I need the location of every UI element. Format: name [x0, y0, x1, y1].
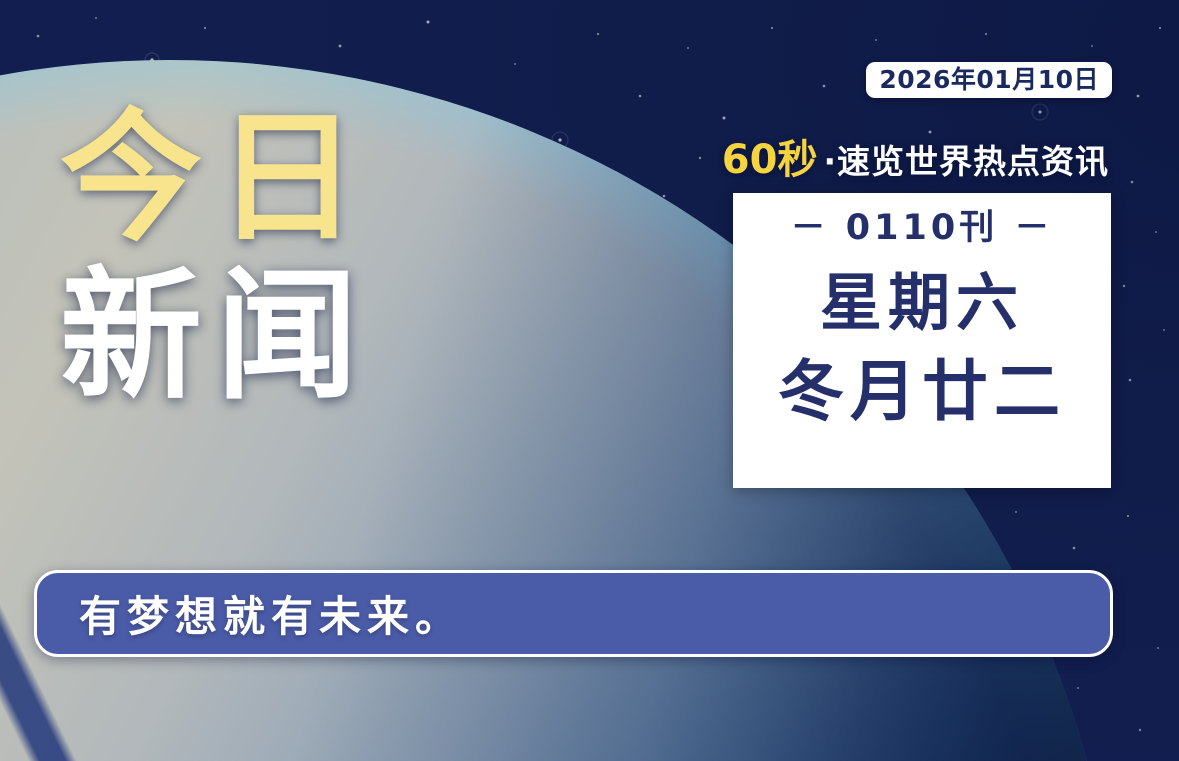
motto-banner: 有梦想就有未来。	[34, 570, 1113, 657]
page-title: 今日 新闻	[60, 104, 372, 412]
lunar-date-label: 冬月廿二	[778, 357, 1066, 426]
issue-number: － 0110刊 －	[791, 211, 1054, 246]
title-line-news: 新闻	[60, 262, 372, 412]
weekday-label: 星期六	[820, 270, 1024, 335]
tagline-rest: ·速览世界热点资讯	[823, 142, 1109, 181]
tagline: 60秒·速览世界热点资讯	[722, 140, 1109, 180]
title-line-today: 今日	[60, 104, 372, 254]
news-poster: 2026年01月10日 60秒·速览世界热点资讯 今日 新闻 － 0110刊 －…	[0, 0, 1179, 761]
date-badge: 2026年01月10日	[866, 62, 1112, 98]
tagline-highlight: 60秒	[722, 137, 818, 183]
motto-text: 有梦想就有未来。	[79, 583, 463, 644]
info-card: － 0110刊 － 星期六 冬月廿二	[733, 193, 1111, 488]
